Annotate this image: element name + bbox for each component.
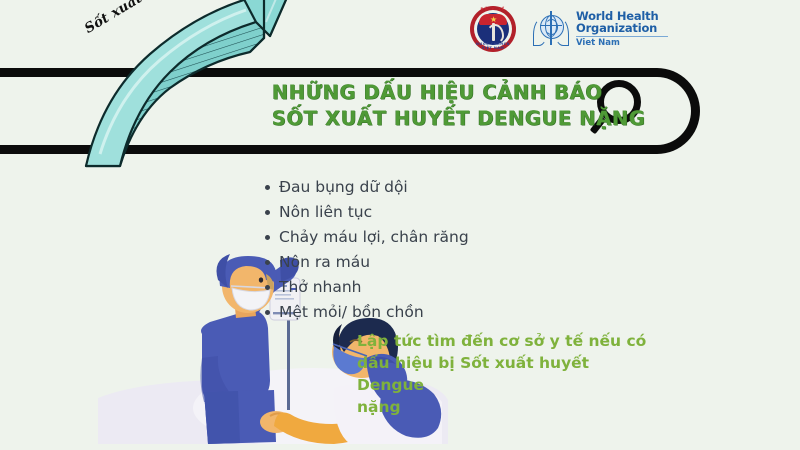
- footer-spacer: [0, 444, 800, 450]
- list-item: Mệt mỏi/ bồn chồn: [265, 301, 469, 323]
- list-item: Đau bụng dữ dội: [265, 176, 469, 198]
- who-divider: [576, 36, 668, 37]
- who-wordmark: World Health Organization Viet Nam: [576, 10, 668, 49]
- bullet-dot-icon: [265, 210, 270, 215]
- moh-top-text: BỘ Y TẾ: [470, 7, 516, 11]
- who-logo: World Health Organization Viet Nam: [532, 10, 668, 49]
- headline-line-1: NHỮNG DẤU HIỆU CẢNH BÁO: [272, 80, 646, 106]
- poster-canvas: Sốt xuất huyết: Hỏi&Đáp NHỮNG DẤU HIỆU C…: [0, 0, 800, 450]
- bullet-dot-icon: [265, 285, 270, 290]
- headline-line-2: SỐT XUẤT HUYẾT DENGUE NẶNG: [272, 106, 646, 132]
- callout-line-1: Lập tức tìm đến cơ sở y tế nếu có: [357, 330, 657, 352]
- who-country-label: Viet Nam: [576, 39, 668, 48]
- bullet-dot-icon: [265, 185, 270, 190]
- list-item: Chảy máu lợi, chân răng: [265, 226, 469, 248]
- moh-serpent-icon: [486, 24, 504, 44]
- bullet-dot-icon: [265, 260, 270, 265]
- callout-line-2: dấu hiệu bị Sốt xuất huyết Dengue: [357, 352, 657, 396]
- list-item-label: Thở nhanh: [279, 276, 362, 298]
- list-item: Nôn ra máu: [265, 251, 469, 273]
- list-item: Thở nhanh: [265, 276, 469, 298]
- bullet-dot-icon: [265, 235, 270, 240]
- logo-row: BỘ Y TẾ ★ NƯỚC CHXHCN VIỆT NAM World Hea…: [470, 4, 668, 54]
- moh-bottom-text: NƯỚC CHXHCN VIỆT NAM: [470, 42, 516, 50]
- bullet-dot-icon: [265, 310, 270, 315]
- list-item-label: Nôn ra máu: [279, 251, 370, 273]
- list-item-label: Đau bụng dữ dội: [279, 176, 408, 198]
- bo-y-te-logo: BỘ Y TẾ ★ NƯỚC CHXHCN VIỆT NAM: [470, 6, 516, 52]
- callout-advice: Lập tức tìm đến cơ sở y tế nếu có dấu hi…: [357, 330, 657, 418]
- list-item: Nôn liên tục: [265, 201, 469, 223]
- list-item-label: Mệt mỏi/ bồn chồn: [279, 301, 424, 323]
- list-item-label: Chảy máu lợi, chân răng: [279, 226, 469, 248]
- page-title: NHỮNG DẤU HIỆU CẢNH BÁO SỐT XUẤT HUYẾT D…: [272, 80, 646, 132]
- who-line-2: Organization: [576, 22, 668, 34]
- who-emblem-icon: [532, 10, 570, 48]
- callout-line-3: nặng: [357, 396, 657, 418]
- warning-signs-list: Đau bụng dữ dội Nôn liên tục Chảy máu lợ…: [265, 176, 469, 326]
- who-serpent-icon: [545, 19, 558, 35]
- list-item-label: Nôn liên tục: [279, 201, 372, 223]
